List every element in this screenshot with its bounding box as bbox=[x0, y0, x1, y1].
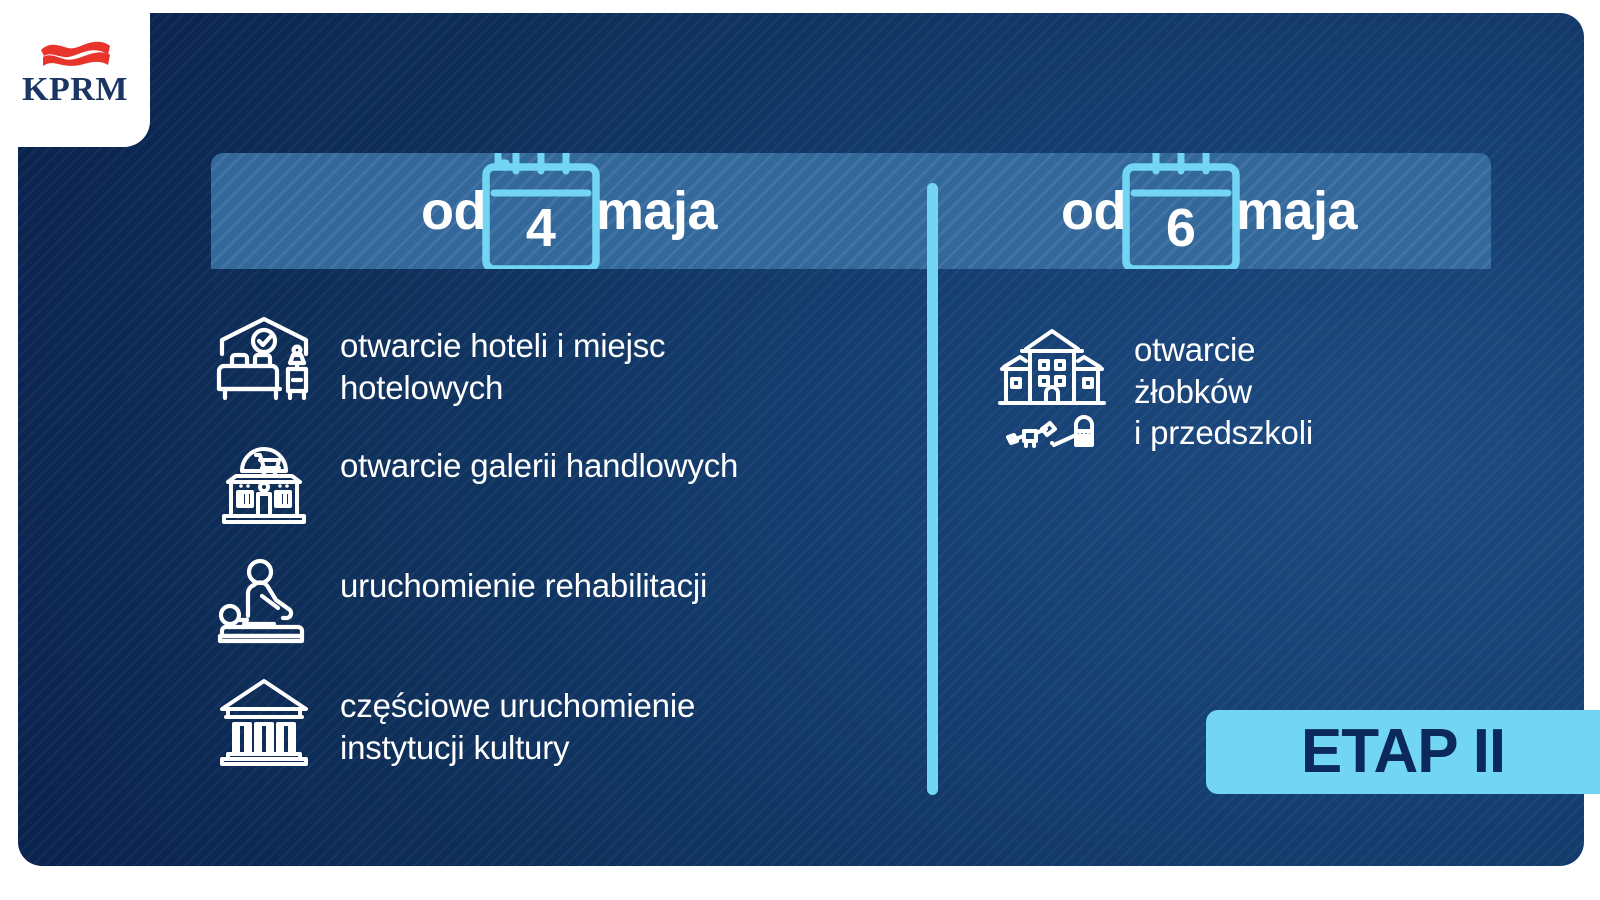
list-item: uruchomienie rehabilitacji bbox=[214, 549, 914, 649]
hotel-bed-icon bbox=[214, 309, 314, 409]
calendar-day-left: 4 bbox=[526, 201, 556, 255]
stage-badge: ETAP II bbox=[1206, 710, 1600, 794]
list-item: otwarcie hoteli i miejsc hotelowych bbox=[214, 309, 914, 409]
date-banner-strip: od 4 maja od 6 bbox=[211, 153, 1491, 269]
list-item-label: otwarcie żłobków i przedszkoli bbox=[1134, 323, 1313, 454]
culture-temple-icon bbox=[214, 669, 314, 769]
column-left: otwarcie hoteli i miejsc hotelowych bbox=[214, 309, 914, 789]
list-item-label: częściowe uruchomienie instytucji kultur… bbox=[340, 669, 695, 768]
list-item-label: otwarcie galerii handlowych bbox=[340, 429, 738, 487]
rehabilitation-massage-icon bbox=[214, 549, 314, 649]
date-prefix-right: od bbox=[1061, 184, 1126, 238]
kprm-logo-text: KPRM bbox=[22, 71, 128, 109]
vertical-divider bbox=[927, 183, 938, 795]
shopping-mall-icon bbox=[214, 429, 314, 529]
list-item: otwarcie żłobków i przedszkoli bbox=[996, 323, 1466, 454]
calendar-icon-left: 4 bbox=[480, 153, 602, 269]
date-suffix-right: maja bbox=[1236, 184, 1357, 238]
calendar-icon-right: 6 bbox=[1120, 153, 1242, 269]
list-item-label: uruchomienie rehabilitacji bbox=[340, 549, 707, 607]
date-prefix-left: od bbox=[421, 184, 486, 238]
column-right: otwarcie żłobków i przedszkoli bbox=[996, 323, 1466, 454]
calendar-day-right: 6 bbox=[1166, 201, 1196, 255]
list-item: otwarcie galerii handlowych bbox=[214, 429, 914, 529]
stage-badge-label: ETAP II bbox=[1301, 721, 1505, 783]
list-item: częściowe uruchomienie instytucji kultur… bbox=[214, 669, 914, 769]
date-group-left: od 4 maja bbox=[211, 153, 927, 269]
date-group-right: od 6 maja bbox=[927, 153, 1491, 269]
kprm-logo: KPRM bbox=[0, 0, 150, 147]
list-item-label: otwarcie hoteli i miejsc hotelowych bbox=[340, 309, 665, 408]
kindergarten-playground-icon bbox=[996, 323, 1108, 451]
date-suffix-left: maja bbox=[596, 184, 717, 238]
polish-flag-icon bbox=[38, 39, 112, 69]
